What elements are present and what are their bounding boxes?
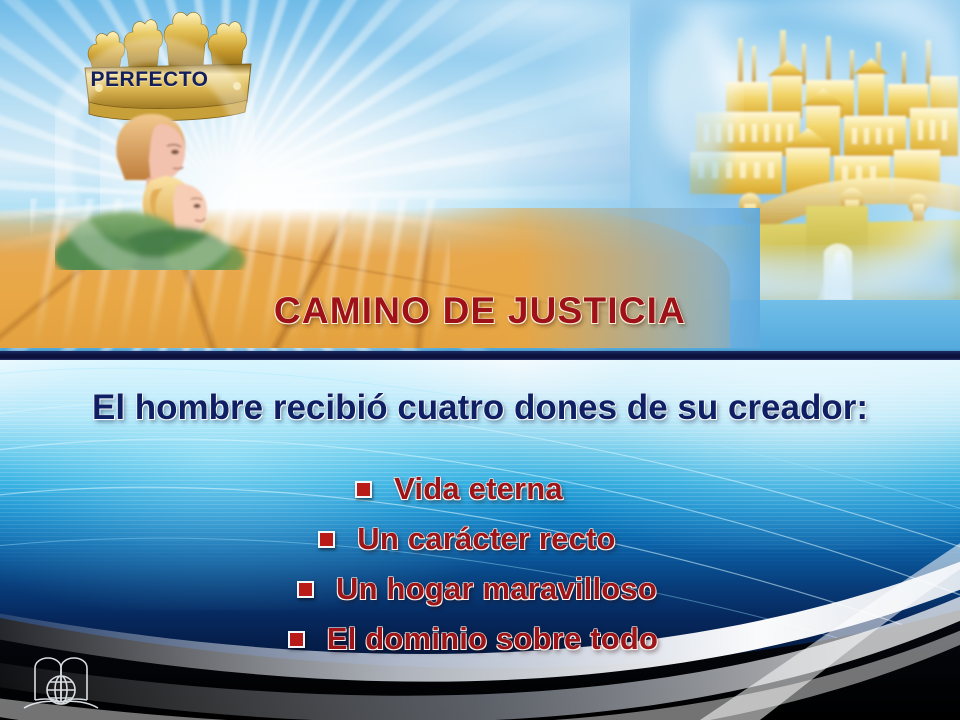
bullet-square-icon [318, 531, 335, 548]
header-title: CAMINO DE JUSTICIA [0, 290, 960, 332]
page-title: El hombre recibió cuatro dones de su cre… [0, 388, 960, 428]
slide: PERFECTO CAMINO DE JUSTICIA [0, 0, 960, 720]
bullet-square-icon [288, 631, 305, 648]
list-item: El dominio sobre todo [288, 618, 658, 660]
header-banner: PERFECTO CAMINO DE JUSTICIA [0, 0, 960, 360]
couple-illustration [55, 10, 255, 270]
list-item: Un hogar maravilloso [297, 568, 657, 610]
content-area: El hombre recibió cuatro dones de su cre… [0, 360, 960, 720]
list-item: Un carácter recto [318, 518, 615, 560]
list-item-label: Vida eterna [394, 471, 563, 507]
gifts-list: Vida eterna Un carácter recto Un hogar m… [0, 468, 960, 668]
bullet-square-icon [297, 581, 314, 598]
crown-label: PERFECTO [82, 68, 217, 92]
open-book-globe-logo-icon [18, 650, 104, 712]
list-item-label: El dominio sobre todo [327, 621, 658, 657]
list-item: Vida eterna [355, 468, 563, 510]
list-item-label: Un hogar maravilloso [336, 571, 657, 607]
bullet-square-icon [355, 481, 372, 498]
list-item-label: Un carácter recto [357, 521, 615, 557]
